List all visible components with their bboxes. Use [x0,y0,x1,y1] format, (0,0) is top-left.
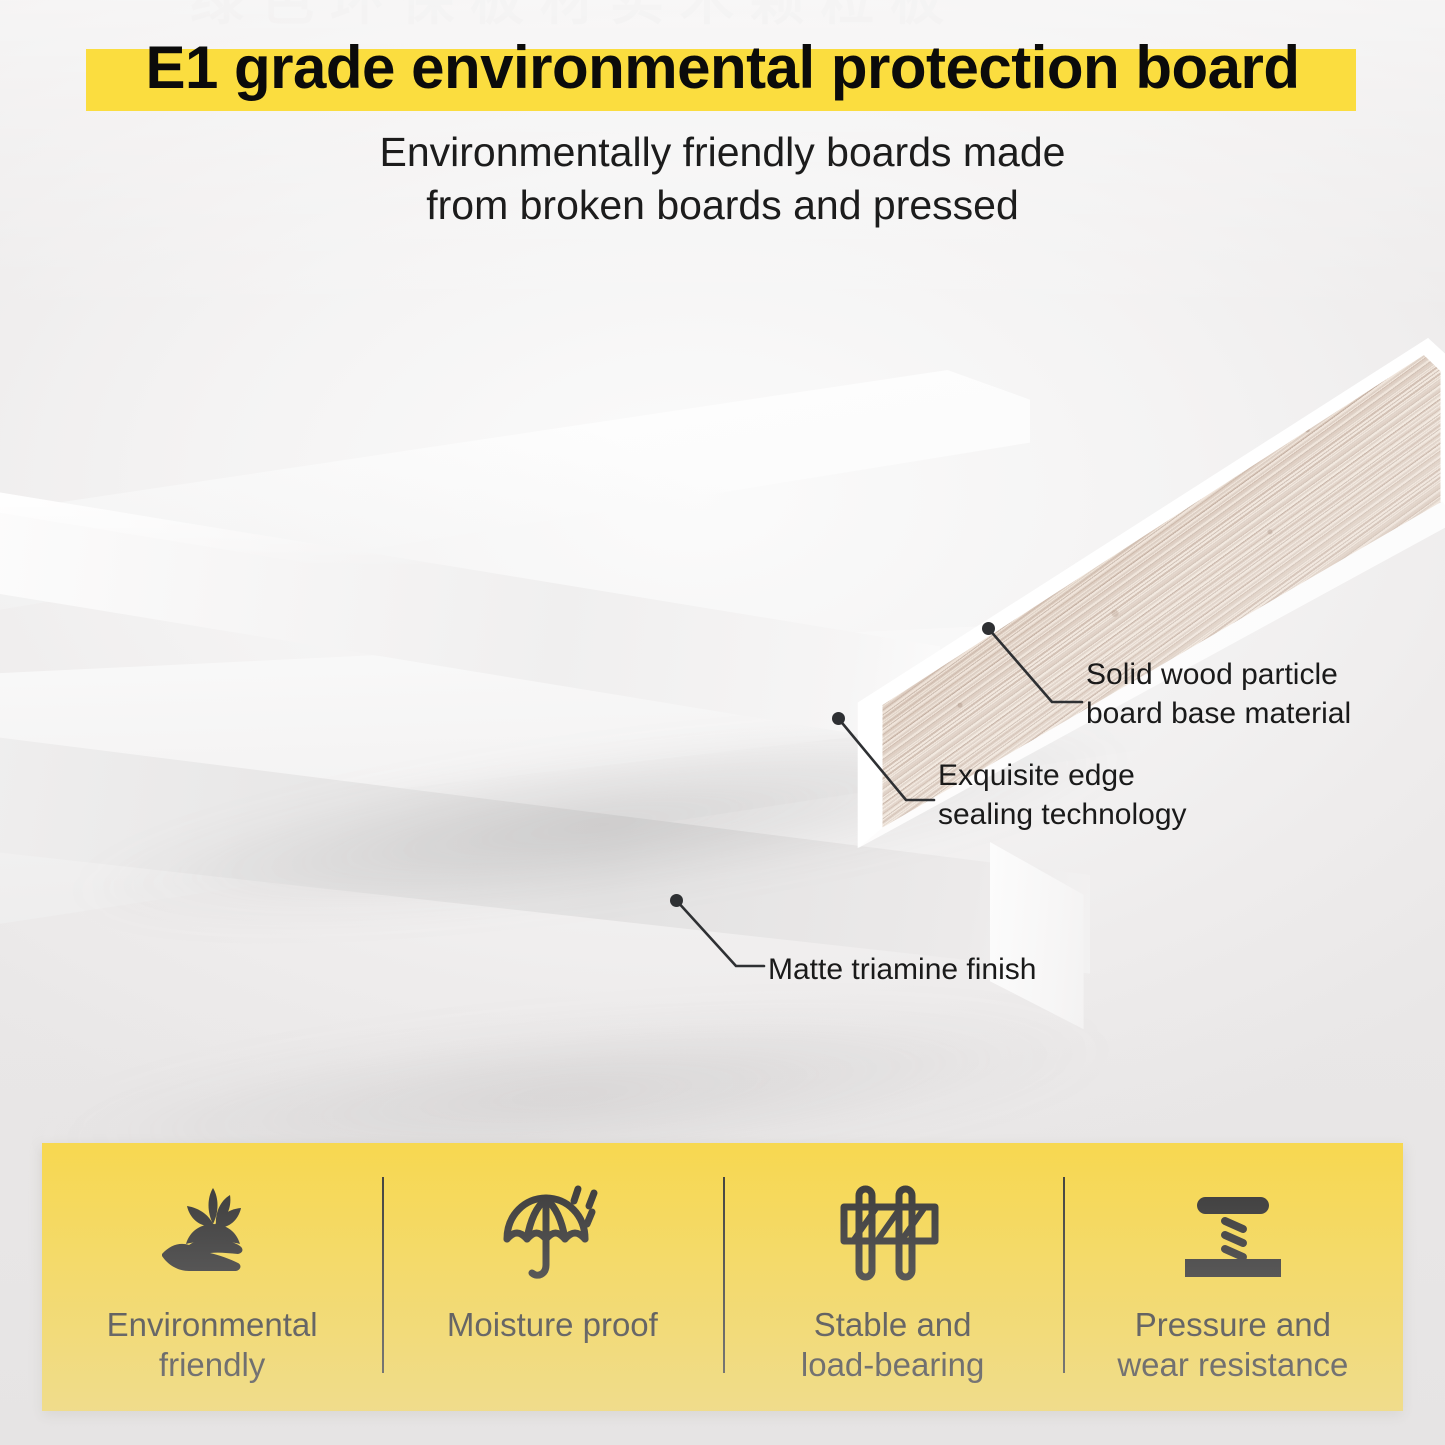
page-title: E1 grade environmental protection board [0,38,1445,98]
feature-4-line-1: Pressure and [1117,1305,1348,1345]
page-subtitle-line-2: from broken boards and pressed [0,179,1445,232]
feature-label-environmental-friendly: Environmental friendly [107,1305,318,1384]
page-subtitle-line-1: Environmentally friendly boards made [0,126,1445,179]
ghost-header-label: 绿色环保板材实木颗粒板 [190,0,960,26]
board-illustration [0,230,1445,1150]
feature-pressure-wear-resistance[interactable]: Pressure and wear resistance [1063,1143,1403,1411]
umbrella-rain-icon [494,1179,610,1289]
page-subtitle: Environmentally friendly boards made fro… [0,126,1445,233]
road-barrier-icon [837,1179,949,1289]
feature-2-line-1: Moisture proof [447,1305,658,1345]
feature-bar: Environmental friendly [42,1143,1403,1411]
ghost-header-text: 绿色环保板材实木颗粒板 [0,0,1445,26]
product-infographic: 绿色环保板材实木颗粒板 E1 grade environmental prote… [0,0,1445,1445]
press-compression-icon [1177,1179,1289,1289]
hand-holding-plant-icon [156,1179,268,1289]
feature-4-line-2: wear resistance [1117,1345,1348,1385]
feature-label-pressure-wear-resistance: Pressure and wear resistance [1117,1305,1348,1384]
feature-environmental-friendly[interactable]: Environmental friendly [42,1143,382,1411]
feature-3-line-1: Stable and [801,1305,984,1345]
feature-moisture-proof[interactable]: Moisture proof [382,1143,722,1411]
feature-stable-load-bearing[interactable]: Stable and load-bearing [723,1143,1063,1411]
feature-label-stable-load-bearing: Stable and load-bearing [801,1305,984,1384]
feature-1-line-1: Environmental [107,1305,318,1345]
feature-1-line-2: friendly [107,1345,318,1385]
feature-3-line-2: load-bearing [801,1345,984,1385]
page-title-wrapper: E1 grade environmental protection board [0,38,1445,98]
feature-label-moisture-proof: Moisture proof [447,1305,658,1345]
